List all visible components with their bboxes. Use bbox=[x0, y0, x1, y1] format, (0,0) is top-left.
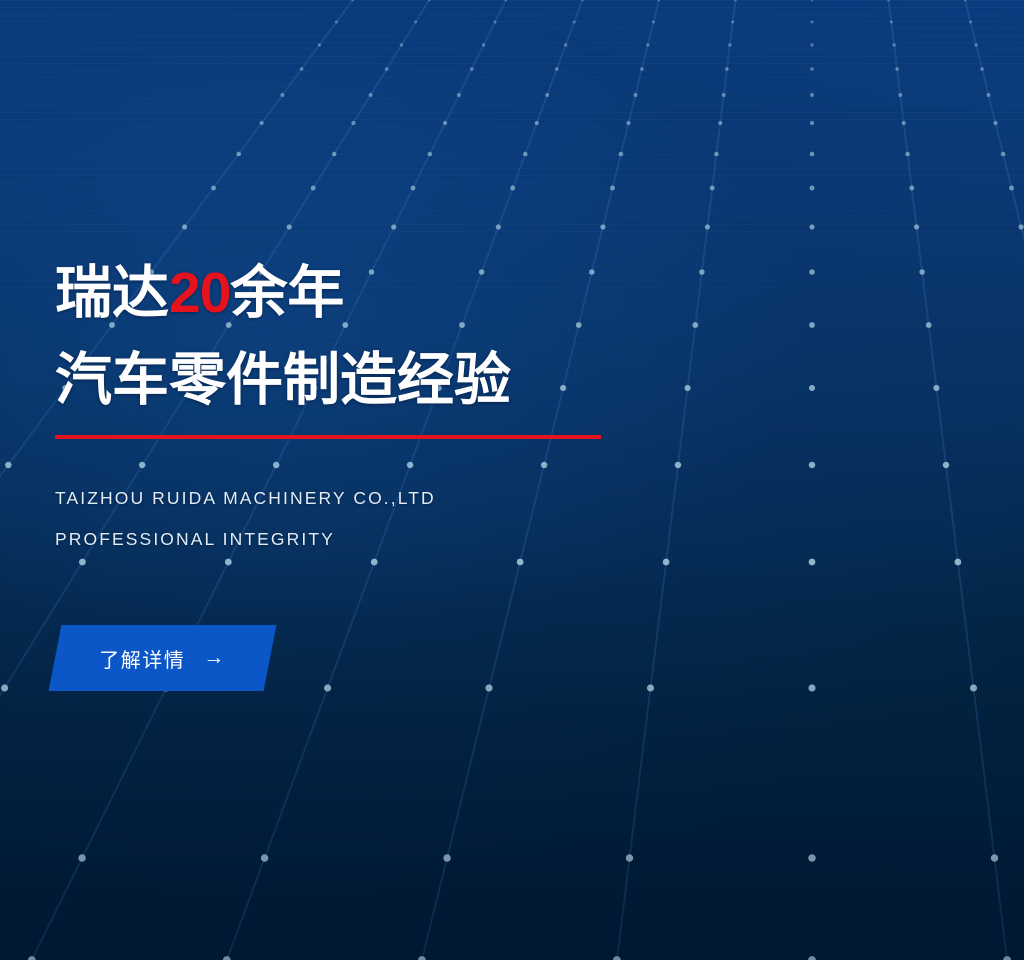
subtitle-tagline: PROFESSIONAL INTEGRITY bbox=[55, 529, 335, 550]
headline-suffix: 余年 bbox=[230, 261, 344, 325]
page-title: 瑞达20余年 汽车零件制造经验 bbox=[55, 250, 511, 424]
arrow-right-icon: → bbox=[203, 647, 226, 668]
headline-prefix: 瑞达 bbox=[55, 261, 169, 325]
hero-banner: 瑞达20余年 汽车零件制造经验 TAIZHOU RUIDA MACHINERY … bbox=[0, 0, 1024, 960]
hero-content: 瑞达20余年 汽车零件制造经验 TAIZHOU RUIDA MACHINERY … bbox=[55, 0, 755, 960]
learn-more-button-inner: 了解详情 → bbox=[55, 625, 270, 691]
headline-line-1: 瑞达20余年 bbox=[55, 261, 344, 325]
learn-more-label: 了解详情 bbox=[99, 644, 185, 673]
learn-more-button[interactable]: 了解详情 → bbox=[49, 625, 277, 691]
title-divider bbox=[55, 435, 601, 439]
headline-number: 20 bbox=[169, 261, 230, 325]
subtitle-company: TAIZHOU RUIDA MACHINERY CO.,LTD bbox=[55, 488, 436, 509]
headline-line-2: 汽车零件制造经验 bbox=[55, 337, 511, 424]
